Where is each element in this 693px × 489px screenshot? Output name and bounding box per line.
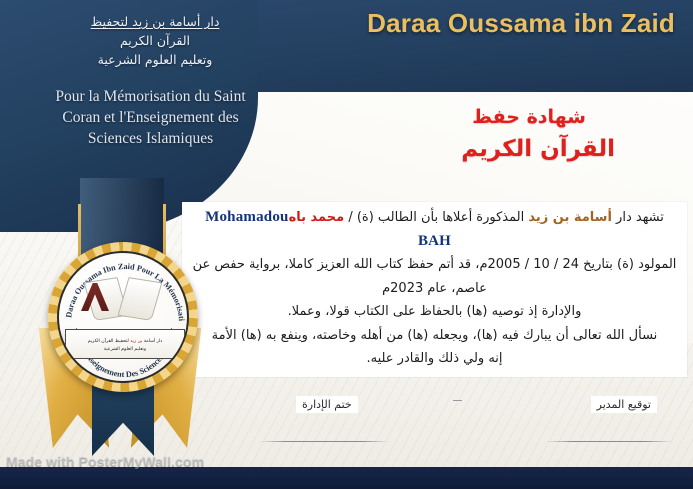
body-line-5: نسأل الله تعالى أن يبارك فيه (ها)، ويجعل…	[188, 324, 681, 348]
org-arabic-line-3: وتعليم العلوم الشرعية	[20, 50, 290, 69]
body-line-6: إنه ولي ذلك والقادر عليه.	[188, 347, 681, 371]
body-line1-prefix: تشهد دار	[612, 210, 664, 225]
organization-name-arabic: دار أسامة بن زيد لتحفيظ القرآن الكريم وت…	[20, 12, 290, 69]
seal-banner-line-1: دار أسامة بن زيد لتحفيظ القرآن الكريم	[66, 338, 184, 346]
stamp-label: ختم الإدارة	[296, 396, 358, 413]
french-line-3: Sciences Islamiques	[8, 128, 293, 149]
certificate-title-line-2: القرآن الكريم	[461, 134, 615, 164]
director-signature-line	[545, 441, 673, 442]
bottom-navy-bar	[0, 467, 693, 489]
seal-disc: Daraa Oussama Ibn Zaid Pour La Mémorisat…	[57, 251, 189, 383]
certificate-title-line-1: شهادة حفظ	[461, 104, 597, 130]
director-signature-label: توقيع المدير	[591, 396, 657, 413]
organization-highlight: أسامة بن زيد	[528, 210, 612, 225]
body-line-1: تشهد دار أسامة بن زيد المذكورة أعلاها بأ…	[188, 206, 681, 253]
rosette-badge: Daraa Oussama Ibn Zaid Pour La Mémorisat…	[48, 242, 198, 392]
certificate-title: شهادة حفظ القرآن الكريم	[461, 104, 597, 164]
stamp-signature-line	[258, 441, 390, 442]
org-arabic-line-1: دار أسامة بن زيد لتحفيظ	[20, 12, 290, 31]
body-line-4: والإدارة إذ توصيه (ها) بالحفاظ على الكتا…	[188, 300, 681, 324]
student-name-arabic: محمد باه	[289, 210, 345, 225]
certificate-body: تشهد دار أسامة بن زيد المذكورة أعلاها بأ…	[182, 202, 687, 377]
seal-banner-text: دار أسامة بن زيد لتحفيظ القرآن الكريم وت…	[65, 329, 185, 359]
body-line-3: عاصم، عام 2023م	[188, 277, 681, 301]
body-line-2: المولود (ة) بتاريخ 24 / 10 / 2005م، قد أ…	[188, 253, 681, 277]
divider-dash	[453, 400, 462, 401]
french-line-1: Pour la Mémorisation du Saint	[8, 86, 293, 107]
organization-subtitle-french: Pour la Mémorisation du Saint Coran et l…	[8, 86, 293, 149]
org-arabic-line-2: القرآن الكريم	[20, 31, 290, 50]
french-line-2: Coran et l'Enseignement des	[8, 107, 293, 128]
seal-banner-line-2: وتعليم العلوم الشرعية	[66, 346, 184, 354]
official-seal: Daraa Oussama Ibn Zaid Pour La Mémorisat…	[26, 178, 222, 446]
certificate-canvas: دار أسامة بن زيد لتحفيظ القرآن الكريم وت…	[0, 0, 693, 489]
brand-title: Daraa Oussama ibn Zaid	[367, 8, 675, 39]
body-line1-middle: المذكورة أعلاها بأن الطالب (ة) /	[344, 210, 528, 225]
book-page-right	[118, 277, 163, 321]
